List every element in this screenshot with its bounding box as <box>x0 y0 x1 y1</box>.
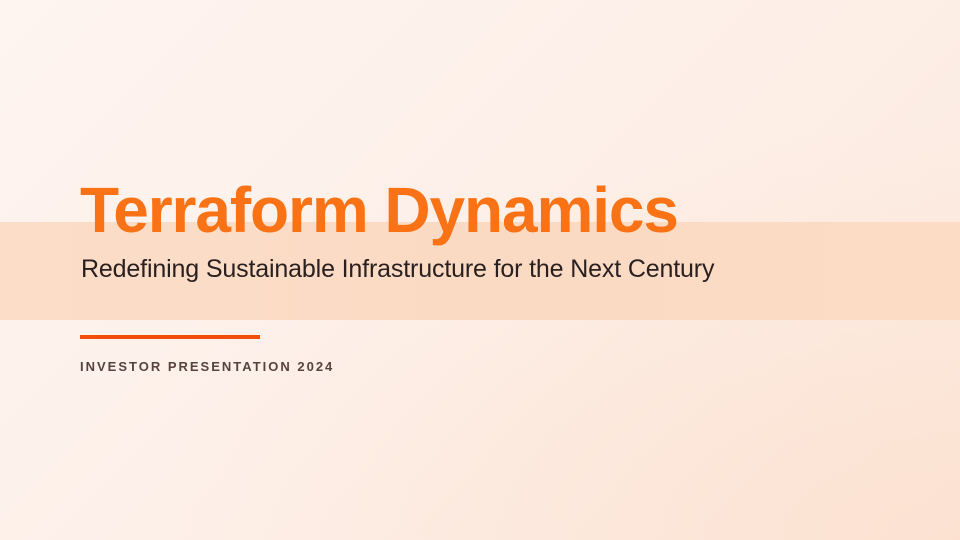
title-slide: Terraform Dynamics Redefining Sustainabl… <box>0 0 960 540</box>
slide-subtitle: Redefining Sustainable Infrastructure fo… <box>81 254 714 285</box>
slide-content: Terraform Dynamics Redefining Sustainabl… <box>80 0 900 540</box>
accent-rule <box>80 335 260 339</box>
page-title: Terraform Dynamics <box>80 178 678 242</box>
presentation-kicker: INVESTOR PRESENTATION 2024 <box>80 359 334 374</box>
